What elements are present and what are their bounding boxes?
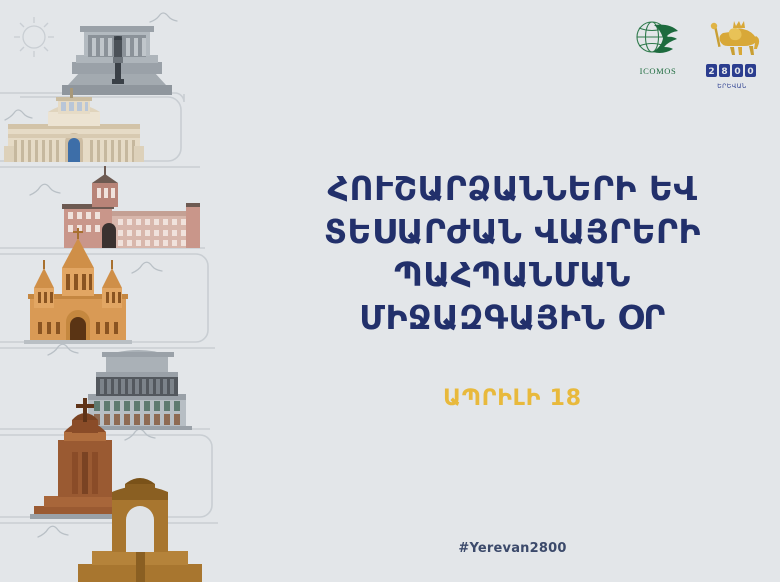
sun-icon: [14, 17, 54, 57]
headline-line-3: ՊԱՀՊԱՆՄԱՆ: [324, 254, 701, 297]
page-title: ՀՈՒՇԱՐՁԱՆՆԵՐԻ ԵՎ ՏԵՍԱՐԺԱՆ ՎԱՅՐԵՐԻ ՊԱՀՊԱՆ…: [302, 168, 723, 340]
monument-arch-monument: [78, 478, 202, 582]
monument-opera-house: [82, 350, 192, 430]
poster-canvas: ICOMOS: [0, 0, 780, 582]
monument-kond-building: [62, 166, 200, 248]
main-content: ՀՈՒՇԱՐՁԱՆՆԵՐԻ ԵՎ ՏԵՍԱՐԺԱՆ ՎԱՅՐԵՐԻ ՊԱՀՊԱՆ…: [245, 0, 780, 582]
headline-line-4: ՄԻՋԱԶԳԱՅԻՆ ՕՐ: [324, 297, 701, 340]
event-date: ԱՊՐԻԼԻ 18: [443, 386, 582, 411]
monument-cross-monument: [30, 398, 140, 519]
headline-line-1: ՀՈՒՇԱՐՁԱՆՆԵՐԻ ԵՎ: [324, 168, 701, 211]
cloud-icon: [5, 13, 177, 537]
monument-matenadaran: [62, 26, 172, 95]
winding-path: [0, 93, 218, 523]
monument-government-house: [4, 88, 144, 162]
hashtag: #Yerevan2800: [245, 541, 780, 556]
monuments-illustration: [0, 0, 240, 582]
headline-line-2: ՏԵՍԱՐԺԱՆ ՎԱՅՐԵՐԻ: [324, 211, 701, 254]
monument-saint-gregory-cathedral: [24, 228, 132, 344]
